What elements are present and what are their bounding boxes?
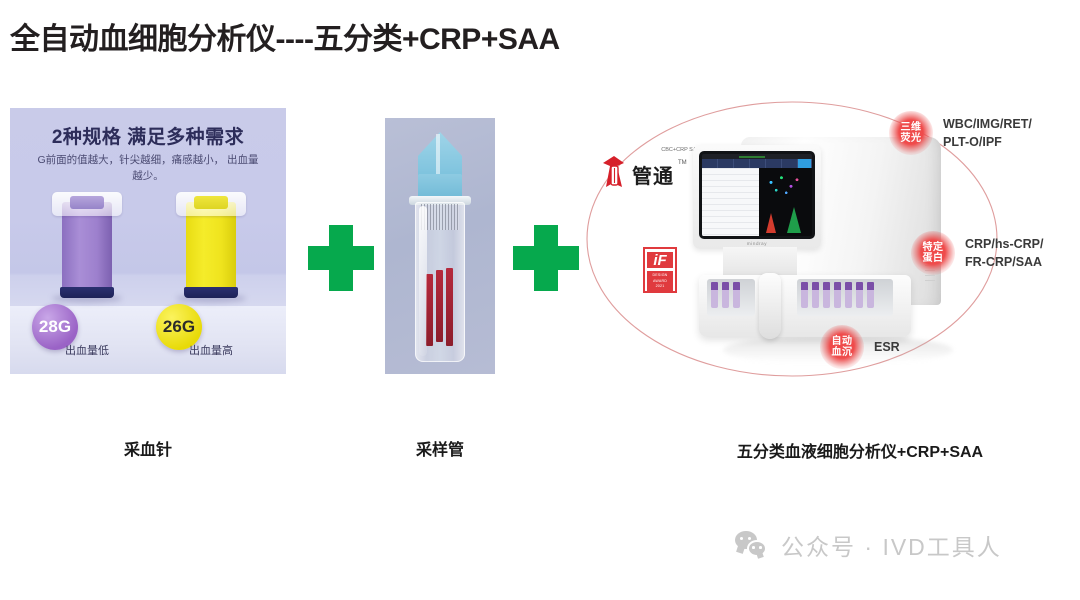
callout-badge-label: 特定 蛋白	[923, 242, 944, 265]
device-sample-bay-right	[797, 279, 893, 316]
wechat-icon	[735, 531, 769, 559]
lancet-label-26g: 出血量高	[166, 342, 256, 358]
product-card-tube	[385, 118, 495, 374]
caption-analyzer: 五分类血液细胞分析仪+CRP+SAA	[660, 438, 1060, 462]
lancet-tip	[194, 196, 228, 209]
screen-topbar	[702, 154, 812, 159]
callout-esr: 自动 血沉 ESR	[820, 325, 900, 369]
tube-blood-strip	[436, 270, 443, 342]
logo-wordmark: 管通	[632, 160, 674, 189]
lancet-card-heading: 2种规格 满足多种需求	[10, 122, 286, 149]
analyzer-scene: CBC+CRP SAA+ESR 管通 TM iF DESIGN AWARD 20…	[575, 95, 1080, 395]
slide-root: 全自动血细胞分析仪----五分类+CRP+SAA 2种规格 满足多种需求 G前面…	[0, 0, 1080, 600]
if-award-line: DESIGN AWARD 2021	[647, 271, 673, 291]
logo-trademark: TM	[678, 160, 687, 166]
tube-cone-highlight	[436, 134, 440, 176]
lancet-device-26g	[182, 176, 240, 300]
device-sample-bay-left	[707, 279, 755, 316]
lancet-label-28g: 出血量低	[42, 342, 132, 358]
callout-badge: 特定 蛋白	[911, 231, 955, 275]
device-head: mindray	[693, 145, 821, 249]
tube-gloss	[419, 206, 427, 356]
sample-vial	[823, 282, 830, 308]
lancet-base	[184, 287, 238, 298]
callout-badge-label: 自动 血沉	[832, 336, 853, 359]
tube-blood-strip	[446, 268, 453, 346]
callout-badge: 三维 荧光	[889, 111, 933, 155]
device-screen	[699, 151, 815, 239]
lancet-card-subtext: G前面的值越大，针尖越细，痛感越小， 出血量越少。	[10, 152, 286, 185]
lancet-device-28g	[58, 176, 116, 300]
logo-mark-icon	[600, 154, 630, 190]
caption-tube: 采样管	[340, 436, 540, 460]
histogram-peak	[766, 213, 776, 233]
tube-cone	[418, 132, 462, 178]
if-design-award-badge: iF DESIGN AWARD 2021	[643, 247, 677, 293]
footer-watermark: 公众号 · IVD工具人	[735, 528, 1002, 562]
callout-specific-protein: 特定 蛋白 CRP/hs-CRP/ FR-CRP/SAA	[911, 231, 1043, 275]
footer-text: 公众号 · IVD工具人	[781, 528, 1002, 562]
sample-vial	[722, 282, 729, 308]
screen-results-table	[702, 168, 759, 236]
tube-blood-strip	[426, 274, 433, 346]
plus-icon-1	[308, 225, 374, 291]
plus-icon-2	[513, 225, 579, 291]
sample-vial	[834, 282, 841, 308]
sample-vial	[845, 282, 852, 308]
if-mark: iF	[647, 252, 673, 268]
caption-lancet: 采血针	[38, 436, 258, 460]
sample-vial	[711, 282, 718, 308]
sampling-tube-graphic	[409, 132, 471, 364]
scatter-dots	[763, 172, 803, 198]
sample-vial	[733, 282, 740, 308]
device-loader-arm	[759, 273, 781, 339]
lancet-base	[60, 287, 114, 298]
hematology-analyzer-device: mindray	[693, 137, 943, 347]
sample-vial	[856, 282, 863, 308]
screen-scatter-plot	[759, 168, 812, 236]
sample-vial	[812, 282, 819, 308]
histogram-peak	[787, 207, 801, 233]
screen-panes	[702, 168, 812, 236]
callout-text: WBC/IMG/RET/ PLT-O/IPF	[943, 115, 1032, 151]
product-card-lancet: 2种规格 满足多种需求 G前面的值越大，针尖越细，痛感越小， 出血量越少。 28…	[10, 108, 286, 374]
callout-text: CRP/hs-CRP/ FR-CRP/SAA	[965, 235, 1043, 271]
sample-vial	[801, 282, 808, 308]
page-title: 全自动血细胞分析仪----五分类+CRP+SAA	[10, 14, 560, 58]
callout-fluorescence: 三维 荧光 WBC/IMG/RET/ PLT-O/IPF	[889, 111, 1032, 155]
device-brand-text: mindray	[693, 241, 821, 246]
callout-badge-label: 三维 荧光	[901, 122, 922, 145]
lancet-tip	[70, 196, 104, 209]
screen-menubar	[702, 159, 812, 168]
sample-vial	[867, 282, 874, 308]
callout-text: ESR	[874, 338, 900, 356]
callout-badge: 自动 血沉	[820, 325, 864, 369]
